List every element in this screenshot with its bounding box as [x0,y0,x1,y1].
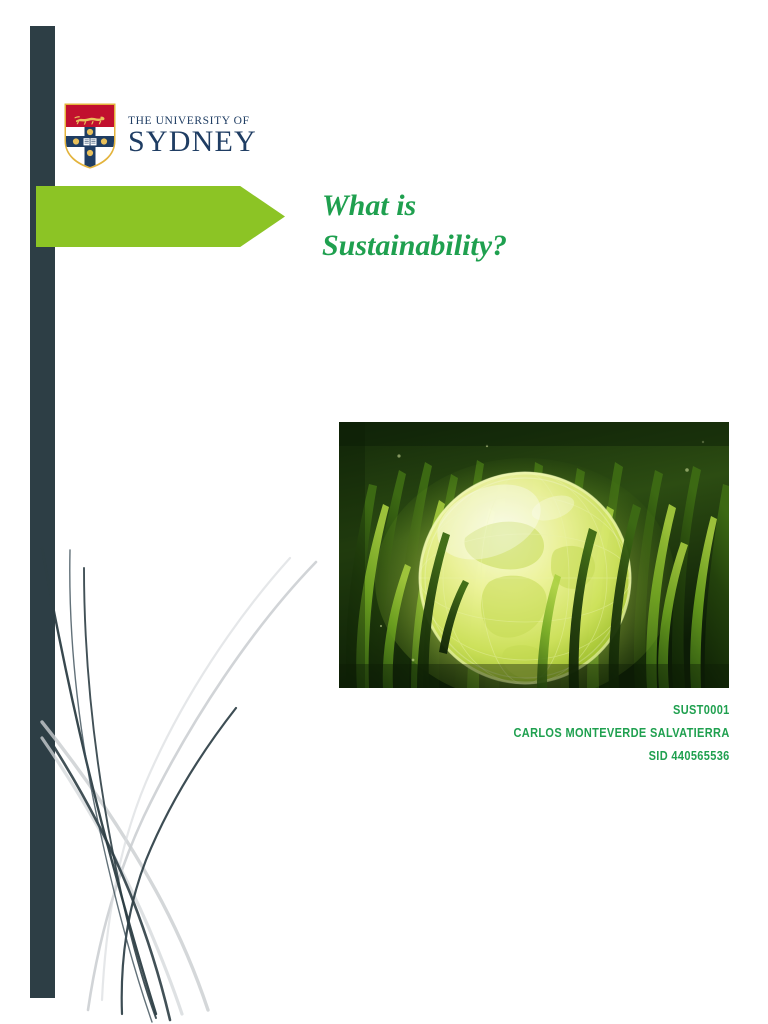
left-accent-bar [30,26,55,998]
sydney-crest-icon [64,103,116,169]
page-title: What is Sustainability? [322,186,702,265]
byline-course-code: SUST0001 [514,699,730,722]
university-logo: THE UNIVERSITY OF SYDNEY [64,102,257,170]
cover-page: THE UNIVERSITY OF SYDNEY What is Sustain… [0,0,768,1024]
globe-in-grass-photo [339,422,729,688]
green-arrow-banner [36,186,285,247]
university-wordmark: THE UNIVERSITY OF SYDNEY [128,114,257,158]
byline-author-name: CARLOS MONTEVERDE SALVATIERRA [514,722,730,745]
grass-line-decoration [40,540,320,1024]
byline: SUST0001 CARLOS MONTEVERDE SALVATIERRA S… [514,699,730,768]
wordmark-line-main: SYDNEY [128,127,257,158]
page-title-line-1: What is [322,186,702,226]
byline-student-id: SID 440565536 [514,745,730,768]
page-title-line-2: Sustainability? [322,226,702,266]
